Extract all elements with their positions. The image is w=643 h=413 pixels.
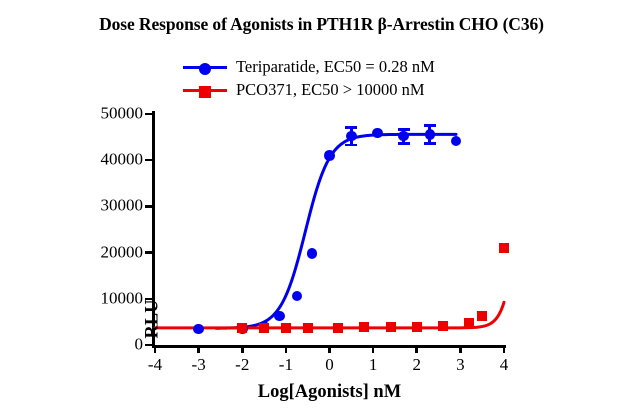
legend-marker-pco371-icon — [183, 84, 227, 98]
x-tick — [154, 345, 157, 353]
chart-title: Dose Response of Agonists in PTH1R β-Arr… — [0, 14, 643, 35]
error-bar-cap — [424, 142, 436, 145]
x-tick — [285, 345, 288, 353]
x-tick — [241, 345, 244, 353]
data-point-pco371 — [438, 321, 448, 331]
x-tick — [503, 345, 506, 353]
plot-area: 01000020000300004000050000 -4-3-2-101234… — [155, 114, 504, 345]
data-point-teriparatide — [324, 150, 335, 161]
y-axis-title: RLU — [143, 299, 164, 338]
data-point-teriparatide — [307, 248, 318, 259]
error-bar-cap — [398, 142, 410, 145]
data-point-pco371 — [477, 311, 487, 321]
error-bar-cap — [345, 144, 357, 147]
x-tick — [372, 345, 375, 353]
legend-label-teriparatide: Teriparatide, EC50 = 0.28 nM — [236, 59, 435, 76]
x-tick — [459, 345, 462, 353]
data-point-pco371 — [303, 323, 313, 333]
legend-item-teriparatide: Teriparatide, EC50 = 0.28 nM — [183, 56, 435, 79]
x-tick-label: 2 — [413, 355, 422, 375]
x-tick-label: 4 — [500, 355, 509, 375]
data-point-pco371 — [386, 322, 396, 332]
fit-curves — [155, 114, 504, 345]
error-bar-cap — [424, 124, 436, 127]
x-tick-label: -3 — [192, 355, 206, 375]
error-bar-cap — [345, 126, 357, 129]
y-tick-label: 10000 — [101, 288, 144, 308]
chart-figure: Dose Response of Agonists in PTH1R β-Arr… — [0, 0, 643, 413]
data-point-teriparatide — [372, 128, 383, 139]
y-tick — [145, 113, 152, 116]
y-tick-label: 20000 — [101, 242, 144, 262]
fit-curve — [155, 302, 504, 328]
data-point-teriparatide — [193, 324, 204, 335]
x-tick — [197, 345, 200, 353]
data-point-teriparatide — [274, 311, 285, 322]
y-tick — [145, 159, 152, 162]
data-point-pco371 — [259, 323, 269, 333]
data-point-teriparatide — [425, 129, 436, 140]
data-point-teriparatide — [346, 131, 357, 142]
x-tick-label: 1 — [369, 355, 378, 375]
data-point-pco371 — [359, 322, 369, 332]
y-tick-label: 30000 — [101, 196, 144, 216]
data-point-pco371 — [499, 243, 509, 253]
y-tick — [145, 251, 152, 254]
legend-marker-teriparatide-icon — [183, 61, 227, 75]
data-point-pco371 — [281, 323, 291, 333]
y-tick-label: 40000 — [101, 150, 144, 170]
legend-label-pco371: PCO371, EC50 > 10000 nM — [236, 82, 425, 99]
y-tick-label: 50000 — [101, 104, 144, 124]
chart-legend: Teriparatide, EC50 = 0.28 nM PCO371, EC5… — [183, 56, 435, 102]
x-tick-label: -1 — [279, 355, 293, 375]
data-point-pco371 — [464, 318, 474, 328]
x-tick-label: 0 — [325, 355, 334, 375]
fit-curve — [216, 134, 456, 328]
x-tick — [328, 345, 331, 353]
legend-item-pco371: PCO371, EC50 > 10000 nM — [183, 79, 435, 102]
x-axis-title: Log[Agonists] nM — [155, 382, 504, 403]
x-tick-label: -2 — [235, 355, 249, 375]
data-point-pco371 — [237, 323, 247, 333]
x-tick-label: 3 — [456, 355, 465, 375]
x-tick — [415, 345, 418, 353]
y-tick — [145, 344, 152, 347]
y-tick — [145, 205, 152, 208]
data-point-pco371 — [333, 323, 343, 333]
data-point-pco371 — [412, 322, 422, 332]
x-tick-label: -4 — [148, 355, 162, 375]
